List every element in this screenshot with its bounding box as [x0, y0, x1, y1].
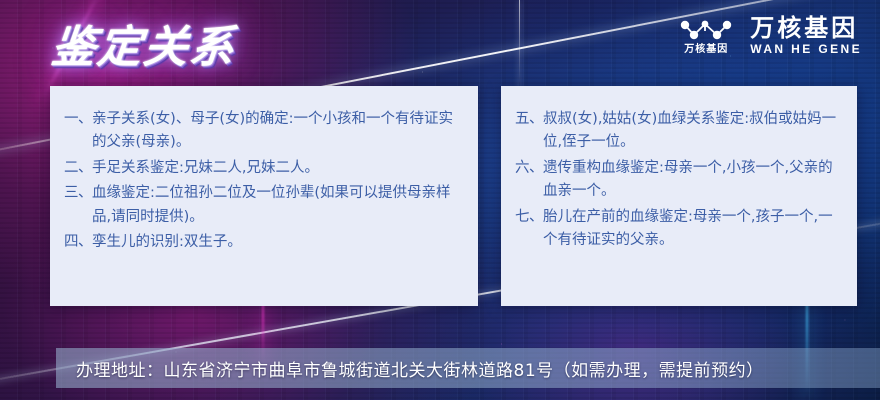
list-item-text: 亲子关系(女)、母子(女)的确定:一个小孩和一个有待证实的父亲(母亲)。 [92, 108, 460, 155]
molecule-dna-nodes-icon [678, 17, 734, 43]
list-item-number: 五、 [515, 108, 543, 131]
page-title-text: 鉴定关系 [49, 11, 240, 75]
list-item: 五、 叔叔(女),姑姑(女)血绿关系鉴定:叔伯或姑妈一位,侄子一位。 [515, 108, 839, 155]
relationship-list-right: 五、 叔叔(女),姑姑(女)血绿关系鉴定:叔伯或姑妈一位,侄子一位。 六、 遗传… [515, 108, 839, 253]
list-item-number: 四、 [64, 231, 92, 254]
list-item-number: 一、 [64, 108, 92, 131]
list-item-text: 手足关系鉴定:兄妹二人,兄妹二人。 [92, 157, 460, 180]
list-item-number: 三、 [64, 182, 92, 205]
page-title: 鉴定关系 [52, 8, 352, 78]
list-item-text: 孪生儿的识别:双生子。 [92, 231, 460, 254]
info-panel-left: 一、 亲子关系(女)、母子(女)的确定:一个小孩和一个有待证实的父亲(母亲)。 … [50, 86, 478, 306]
list-item-number: 六、 [515, 157, 543, 180]
list-item: 二、 手足关系鉴定:兄妹二人,兄妹二人。 [64, 157, 460, 180]
logo-brand-cn: 万核基因 [750, 17, 858, 41]
list-item-text: 遗传重构血缘鉴定:母亲一个,小孩一个,父亲的血亲一个。 [543, 157, 839, 204]
list-item-number: 二、 [64, 157, 92, 180]
address-text: 办理地址：山东省济宁市曲阜市鲁城街道北关大街林道路81号（如需办理，需提前预约） [76, 356, 764, 381]
list-item-text: 叔叔(女),姑姑(女)血绿关系鉴定:叔伯或姑妈一位,侄子一位。 [543, 108, 839, 155]
info-panel-right: 五、 叔叔(女),姑姑(女)血绿关系鉴定:叔伯或姑妈一位,侄子一位。 六、 遗传… [501, 86, 857, 306]
list-item: 七、 胎儿在产前的血缘鉴定:母亲一个,孩子一个,一个有待证实的父亲。 [515, 206, 839, 253]
relationship-list-left: 一、 亲子关系(女)、母子(女)的确定:一个小孩和一个有待证实的父亲(母亲)。 … [64, 108, 460, 255]
address-banner: 办理地址：山东省济宁市曲阜市鲁城街道北关大街林道路81号（如需办理，需提前预约） [56, 348, 880, 388]
list-item-number: 七、 [515, 206, 543, 229]
slide-canvas: 鉴定关系 [0, 0, 880, 400]
list-item: 六、 遗传重构血缘鉴定:母亲一个,小孩一个,父亲的血亲一个。 [515, 157, 839, 204]
vertical-light-line [519, 0, 520, 90]
logo-wordmark: 万核基因 WAN HE GENE [750, 17, 862, 55]
logo-mark-caption: 万核基因 [684, 45, 728, 55]
list-item: 三、 血缘鉴定:二位祖孙二位及一位孙辈(如果可以提供母亲样品,请同时提供)。 [64, 182, 460, 229]
logo-brand-en: WAN HE GENE [750, 43, 862, 55]
brand-logo: 万核基因 万核基因 WAN HE GENE [678, 10, 862, 62]
list-item-text: 胎儿在产前的血缘鉴定:母亲一个,孩子一个,一个有待证实的父亲。 [543, 206, 839, 253]
list-item: 一、 亲子关系(女)、母子(女)的确定:一个小孩和一个有待证实的父亲(母亲)。 [64, 108, 460, 155]
logo-mark: 万核基因 [678, 17, 734, 55]
list-item-text: 血缘鉴定:二位祖孙二位及一位孙辈(如果可以提供母亲样品,请同时提供)。 [92, 182, 460, 229]
list-item: 四、 孪生儿的识别:双生子。 [64, 231, 460, 254]
